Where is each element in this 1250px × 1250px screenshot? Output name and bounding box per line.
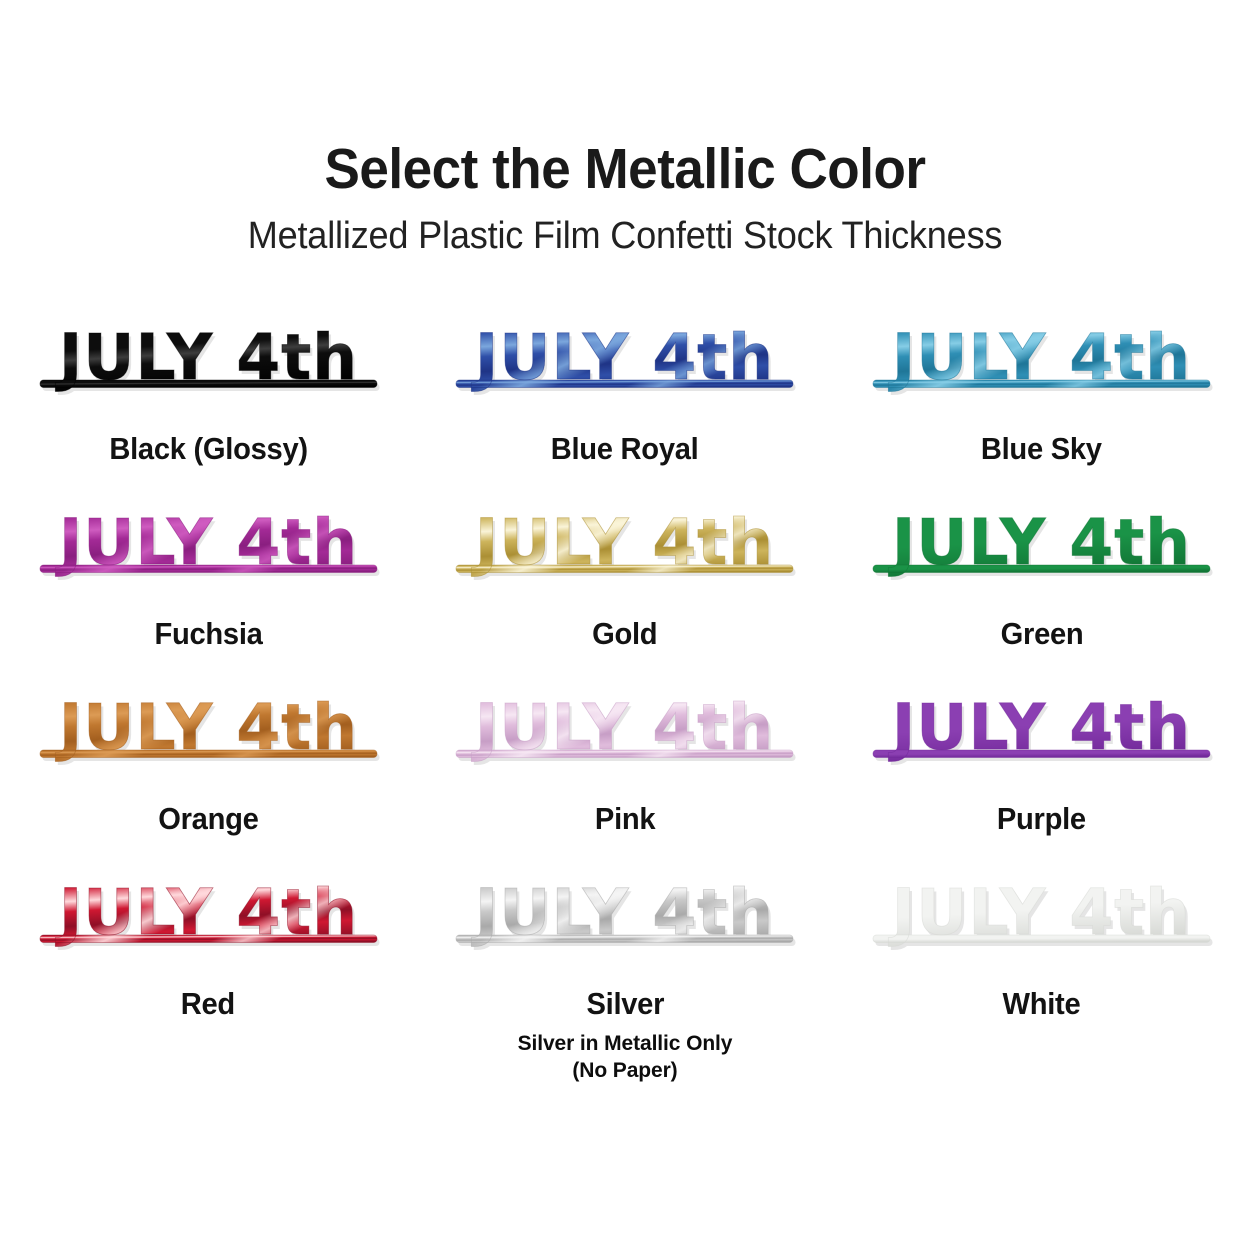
color-swatch-fuchsia[interactable]: JULY 4thJULY 4thJULY 4thJULY 4thFuchsia xyxy=(0,503,417,688)
svg-text:JULY 4th: JULY 4th xyxy=(888,506,1191,579)
svg-text:JULY 4th: JULY 4th xyxy=(471,321,774,394)
svg-text:JULY 4th: JULY 4th xyxy=(888,321,1191,394)
svg-text:JULY 4th: JULY 4th xyxy=(888,691,1191,764)
color-label-black-glossy: Black (Glossy) xyxy=(109,432,308,466)
svg-text:JULY 4th: JULY 4th xyxy=(55,691,358,764)
july-4th-confetti-art-purple[interactable]: JULY 4thJULY 4thJULY 4thJULY 4th xyxy=(864,688,1219,780)
july-4th-confetti-art-white[interactable]: JULY 4thJULY 4thJULY 4thJULY 4th xyxy=(864,873,1219,965)
page-title: Select the Metallic Color xyxy=(44,140,1207,200)
color-note-line: Silver in Metallic Only xyxy=(518,1031,733,1058)
svg-text:JULY 4th: JULY 4th xyxy=(471,506,774,579)
color-swatch-gold[interactable]: JULY 4thJULY 4thJULY 4thJULY 4thGold xyxy=(417,503,834,688)
svg-text:JULY 4th: JULY 4th xyxy=(55,506,358,579)
color-label-gold: Gold xyxy=(592,617,657,651)
color-label-purple: Purple xyxy=(997,802,1086,836)
july-4th-confetti-art-blue-royal[interactable]: JULY 4thJULY 4thJULY 4thJULY 4th xyxy=(447,318,802,410)
color-swatch-black-glossy[interactable]: JULY 4thJULY 4thJULY 4thJULY 4thBlack (G… xyxy=(0,318,417,503)
color-label-red: Red xyxy=(181,987,235,1021)
color-swatch-red[interactable]: JULY 4thJULY 4thJULY 4thJULY 4thRed xyxy=(0,873,417,1058)
color-label-blue-sky: Blue Sky xyxy=(981,432,1102,466)
svg-text:JULY 4th: JULY 4th xyxy=(471,691,774,764)
svg-text:JULY 4th: JULY 4th xyxy=(471,876,774,949)
july-4th-confetti-art-green[interactable]: JULY 4thJULY 4thJULY 4thJULY 4th xyxy=(864,503,1219,595)
july-4th-confetti-art-silver[interactable]: JULY 4thJULY 4thJULY 4thJULY 4th xyxy=(447,873,802,965)
color-swatch-blue-royal[interactable]: JULY 4thJULY 4thJULY 4thJULY 4thBlue Roy… xyxy=(417,318,834,503)
color-label-pink: Pink xyxy=(595,802,655,836)
color-swatch-grid: JULY 4thJULY 4thJULY 4thJULY 4thBlack (G… xyxy=(0,318,1250,1058)
color-label-green: Green xyxy=(1000,617,1083,651)
page-header: Select the Metallic Color Metallized Pla… xyxy=(0,140,1250,258)
color-swatch-green[interactable]: JULY 4thJULY 4thJULY 4thJULY 4thGreen xyxy=(833,503,1250,688)
july-4th-confetti-art-pink[interactable]: JULY 4thJULY 4thJULY 4thJULY 4th xyxy=(447,688,802,780)
color-swatch-orange[interactable]: JULY 4thJULY 4thJULY 4thJULY 4thOrange xyxy=(0,688,417,873)
july-4th-confetti-art-black-glossy[interactable]: JULY 4thJULY 4thJULY 4thJULY 4th xyxy=(31,318,386,410)
svg-text:JULY 4th: JULY 4th xyxy=(888,876,1191,949)
color-swatch-purple[interactable]: JULY 4thJULY 4thJULY 4thJULY 4thPurple xyxy=(833,688,1250,873)
color-note-silver: Silver in Metallic Only(No Paper) xyxy=(518,1031,733,1085)
color-note-line: (No Paper) xyxy=(518,1058,733,1085)
july-4th-confetti-art-red[interactable]: JULY 4thJULY 4thJULY 4thJULY 4th xyxy=(31,873,386,965)
color-selection-page: Select the Metallic Color Metallized Pla… xyxy=(0,0,1250,1250)
july-4th-confetti-art-blue-sky[interactable]: JULY 4thJULY 4thJULY 4thJULY 4th xyxy=(864,318,1219,410)
color-swatch-blue-sky[interactable]: JULY 4thJULY 4thJULY 4thJULY 4thBlue Sky xyxy=(833,318,1250,503)
color-label-white: White xyxy=(1003,987,1081,1021)
color-label-fuchsia: Fuchsia xyxy=(154,617,262,651)
color-swatch-pink[interactable]: JULY 4thJULY 4thJULY 4thJULY 4thPink xyxy=(417,688,834,873)
color-swatch-white[interactable]: JULY 4thJULY 4thJULY 4thJULY 4thWhite xyxy=(833,873,1250,1058)
svg-text:JULY 4th: JULY 4th xyxy=(55,321,358,394)
color-swatch-silver[interactable]: JULY 4thJULY 4thJULY 4thJULY 4thSilverSi… xyxy=(417,873,834,1058)
color-label-orange: Orange xyxy=(158,802,258,836)
svg-text:JULY 4th: JULY 4th xyxy=(55,876,358,949)
july-4th-confetti-art-fuchsia[interactable]: JULY 4thJULY 4thJULY 4thJULY 4th xyxy=(31,503,386,595)
color-label-silver: Silver xyxy=(586,987,664,1021)
july-4th-confetti-art-gold[interactable]: JULY 4thJULY 4thJULY 4thJULY 4th xyxy=(447,503,802,595)
color-label-blue-royal: Blue Royal xyxy=(551,432,699,466)
july-4th-confetti-art-orange[interactable]: JULY 4thJULY 4thJULY 4thJULY 4th xyxy=(31,688,386,780)
page-subtitle: Metallized Plastic Film Confetti Stock T… xyxy=(31,216,1219,258)
